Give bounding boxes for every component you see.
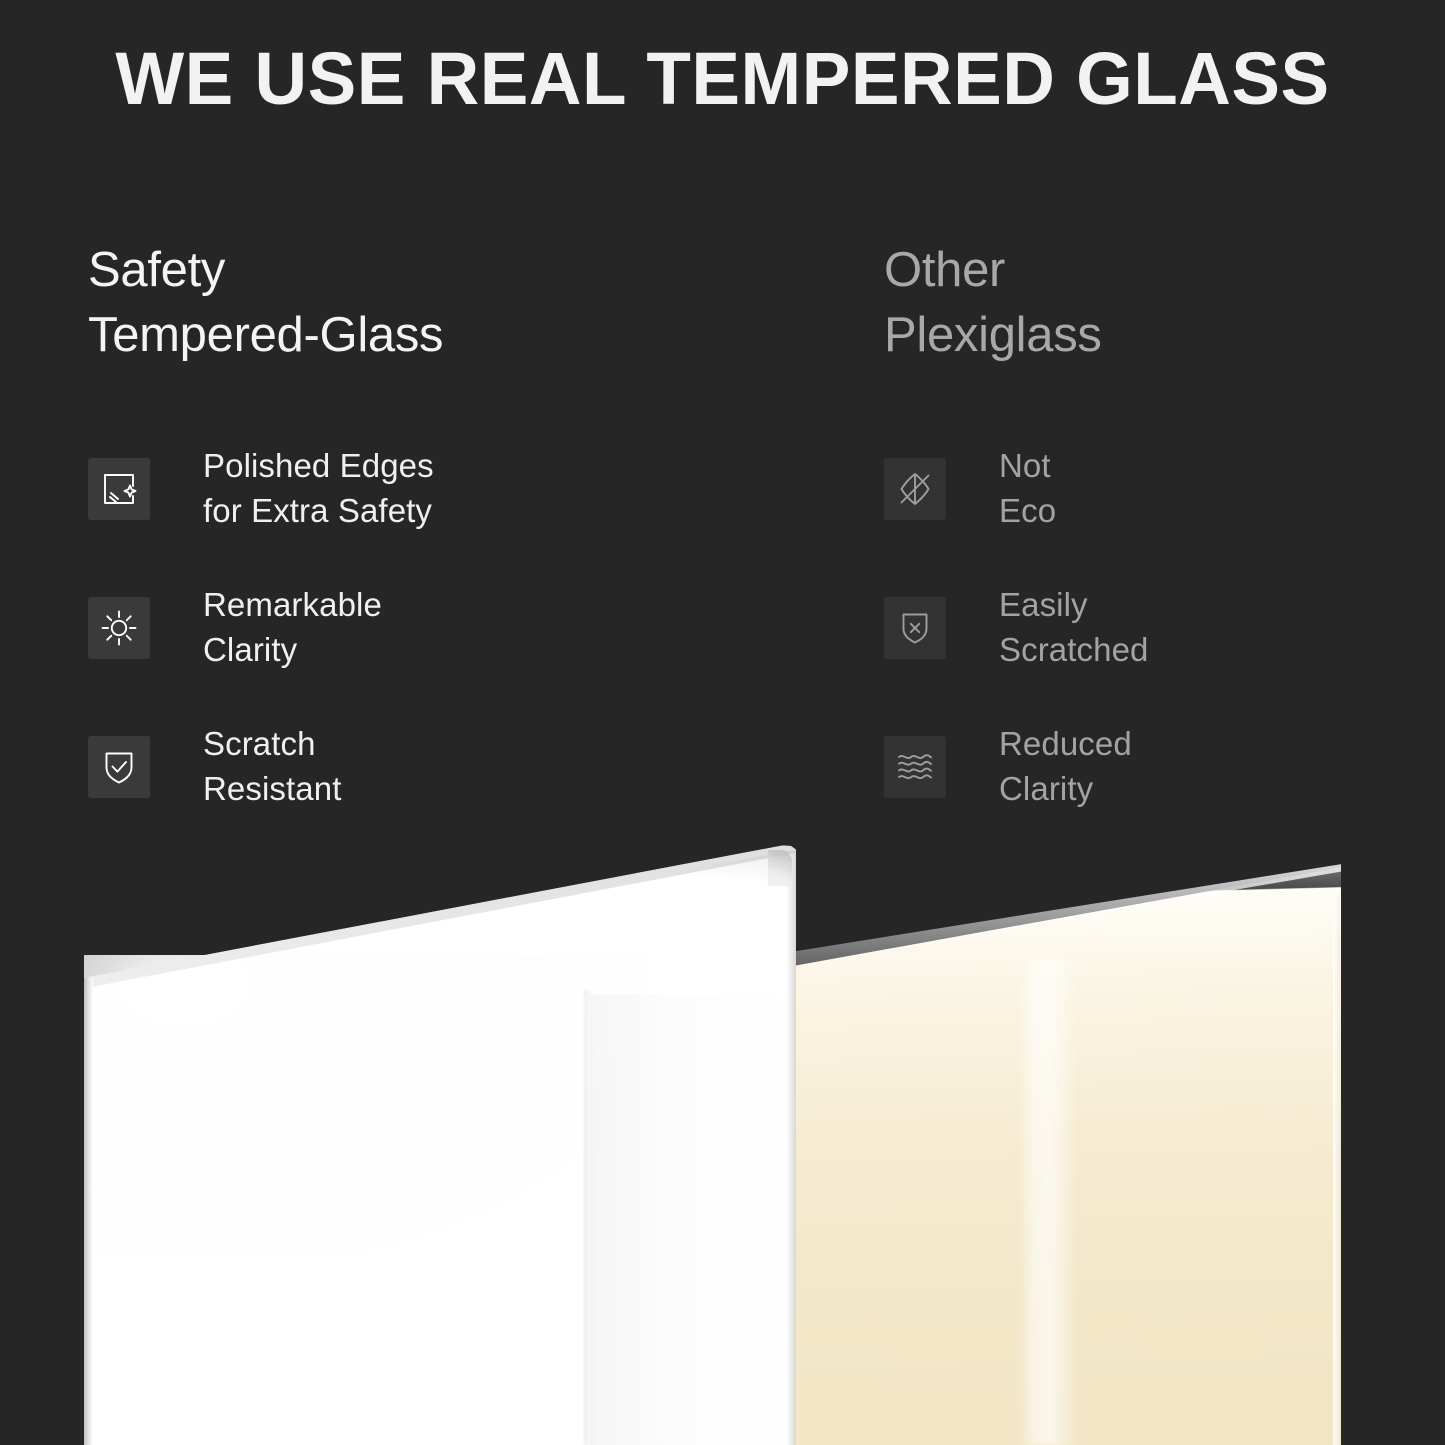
feature-not-eco: Not Eco bbox=[884, 458, 1445, 520]
feature-label-reduced-clarity: Reduced Clarity bbox=[999, 722, 1132, 811]
leaf-slashed-icon bbox=[884, 458, 946, 520]
tempered-glass-corner-highlight bbox=[768, 850, 792, 886]
shield-check-icon bbox=[88, 736, 150, 798]
feature-list-tempered-glass: Polished Edges for Extra Safety Remarkab… bbox=[88, 458, 708, 798]
column-title-tempered-glass: Safety Tempered-Glass bbox=[88, 238, 708, 368]
tempered-glass-right-edge bbox=[786, 854, 796, 1445]
column-plexiglass: Other Plexiglass Not Eco bbox=[884, 238, 1445, 368]
plexiglass-right-background bbox=[1341, 840, 1445, 1445]
column-title-plexiglass: Other Plexiglass bbox=[884, 238, 1445, 368]
feature-list-plexiglass: Not Eco Easily Scratched bbox=[884, 458, 1445, 798]
tempered-glass-left-edge bbox=[84, 978, 93, 1445]
column-tempered-glass: Safety Tempered-Glass Polished Edges for… bbox=[88, 238, 708, 368]
feature-scratch-resistant: Scratch Resistant bbox=[88, 736, 708, 798]
plexiglass-right-edge bbox=[1333, 895, 1340, 1445]
feature-label-remarkable-clarity: Remarkable Clarity bbox=[203, 583, 382, 672]
feature-label-scratch-resistant: Scratch Resistant bbox=[203, 722, 341, 811]
plexiglass-reflection-band bbox=[1018, 960, 1078, 1445]
feature-reduced-clarity: Reduced Clarity bbox=[884, 736, 1445, 798]
feature-polished-edges: Polished Edges for Extra Safety bbox=[88, 458, 708, 520]
product-comparison-infographic: WE USE REAL TEMPERED GLASS Safety Temper… bbox=[0, 0, 1445, 1445]
feature-easily-scratched: Easily Scratched bbox=[884, 597, 1445, 659]
page-title: WE USE REAL TEMPERED GLASS bbox=[11, 40, 1434, 118]
feature-remarkable-clarity: Remarkable Clarity bbox=[88, 597, 708, 659]
shield-x-icon bbox=[884, 597, 946, 659]
polished-glass-sparkle-icon bbox=[88, 458, 150, 520]
feature-label-easily-scratched: Easily Scratched bbox=[999, 583, 1148, 672]
feature-label-polished-edges: Polished Edges for Extra Safety bbox=[203, 444, 434, 533]
tempered-glass-panel bbox=[84, 840, 796, 1445]
plexiglass-panel bbox=[793, 840, 1445, 1445]
sun-brightness-icon bbox=[88, 597, 150, 659]
wavy-lines-icon bbox=[884, 736, 946, 798]
glass-panels-comparison-image bbox=[0, 840, 1445, 1445]
feature-label-not-eco: Not Eco bbox=[999, 444, 1056, 533]
